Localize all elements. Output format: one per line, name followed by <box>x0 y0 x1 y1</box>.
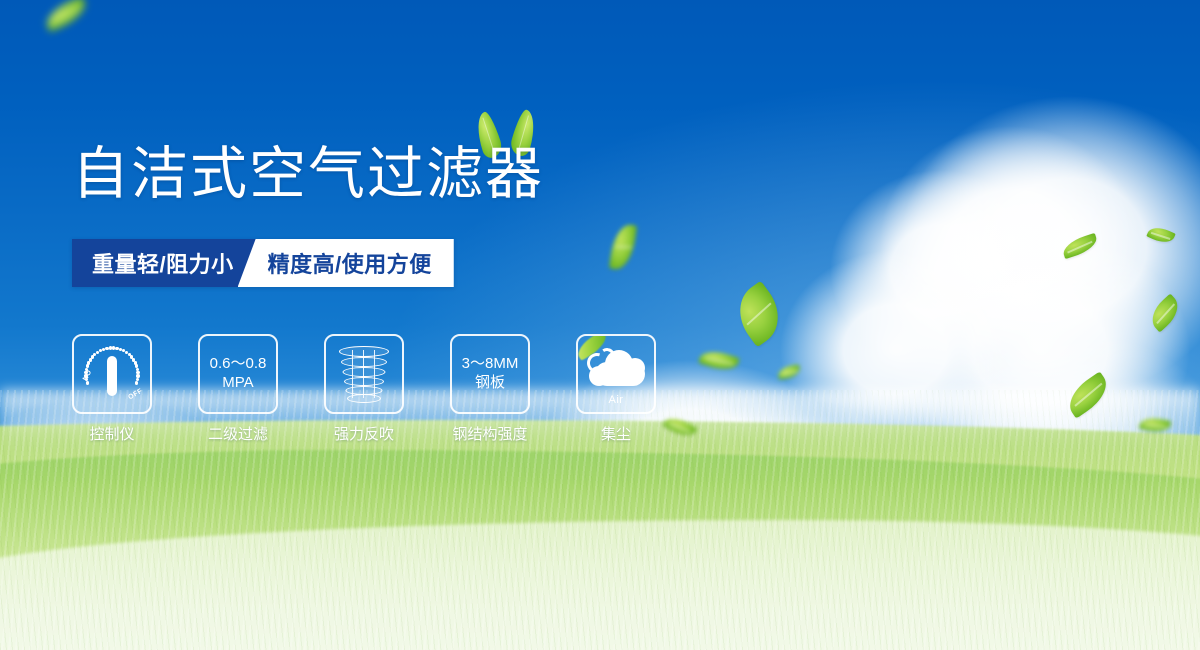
filter-disc <box>347 394 381 403</box>
gauge-tick-dot <box>84 374 87 377</box>
feature-icon-box: Air <box>576 334 656 414</box>
steel-thickness-line2: 钢板 <box>475 374 505 393</box>
subtitle-segment-left: 重量轻/阻力小 <box>72 239 256 287</box>
product-banner: 自洁式空气过滤器 重量轻/阻力小 精度高/使用方便 NO OFF 控制仪 0.6… <box>0 0 1200 650</box>
gauge-tick-dot <box>135 381 138 384</box>
cloud-air-icon: Air <box>581 344 651 404</box>
subtitle-segment-right: 精度高/使用方便 <box>238 239 454 287</box>
feature-caption: 控制仪 <box>72 423 152 444</box>
feature-item-backflush[interactable]: 强力反吹 <box>324 334 404 444</box>
pressure-value-line1: 0.6～0.8 <box>210 355 267 374</box>
feature-icon-box: 3～8MM 钢板 <box>450 334 530 414</box>
feature-item-dust-collection[interactable]: Air 集尘 <box>576 334 656 444</box>
air-label: Air <box>581 394 651 406</box>
gauge-tick-dot <box>86 381 89 384</box>
feature-icon-box <box>324 334 404 414</box>
feature-item-controller[interactable]: NO OFF 控制仪 <box>72 334 152 444</box>
gauge-label-off: OFF <box>127 388 144 402</box>
gauge-tick-dot <box>87 361 90 364</box>
feature-caption: 钢结构强度 <box>450 423 530 444</box>
subtitle-bar: 重量轻/阻力小 精度高/使用方便 <box>72 239 454 287</box>
feature-caption: 强力反吹 <box>324 423 404 444</box>
filter-stack-icon <box>336 344 392 404</box>
gauge-icon: NO OFF <box>81 345 143 403</box>
feature-list: NO OFF 控制仪 0.6～0.8 MPA 二级过滤 <box>72 334 656 444</box>
page-title: 自洁式空气过滤器 <box>72 146 544 203</box>
feature-icon-box: NO OFF <box>72 334 152 414</box>
filter-disc <box>339 346 389 357</box>
feature-item-steel-strength[interactable]: 3～8MM 钢板 钢结构强度 <box>450 334 530 444</box>
gauge-tick-dot <box>86 364 89 367</box>
pressure-value-line2: MPA <box>222 374 253 393</box>
filter-disc <box>344 377 384 386</box>
steel-thickness-line1: 3～8MM <box>462 355 519 374</box>
filter-disc <box>343 367 386 377</box>
gauge-dots <box>112 374 115 377</box>
cloud-body <box>595 362 645 386</box>
feature-item-two-stage-filter[interactable]: 0.6～0.8 MPA 二级过滤 <box>198 334 278 444</box>
feature-caption: 二级过滤 <box>198 423 278 444</box>
filter-disc <box>341 357 387 367</box>
feature-caption: 集尘 <box>576 423 656 444</box>
feature-icon-box: 0.6～0.8 MPA <box>198 334 278 414</box>
